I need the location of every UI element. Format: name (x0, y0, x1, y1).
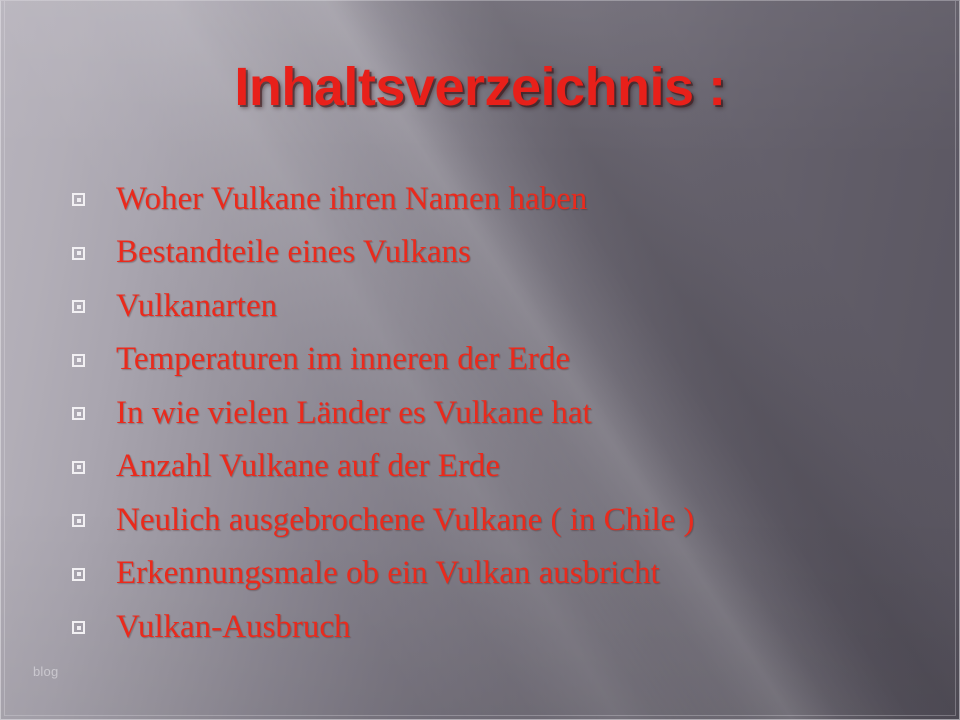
square-bullet-icon (72, 461, 85, 474)
square-bullet-icon (72, 193, 85, 206)
list-item-label: Vulkanarten (116, 288, 277, 324)
list-item[interactable]: In wie vielen Länder es Vulkane hat (0, 386, 960, 440)
list-item-label: Neulich ausgebrochene Vulkane ( in Chile… (116, 502, 694, 538)
watermark-label: blog (33, 664, 58, 680)
table-of-contents-list: Woher Vulkane ihren Namen haben Bestandt… (0, 172, 960, 654)
list-item[interactable]: Temperaturen im inneren der Erde (0, 333, 960, 387)
list-item[interactable]: Erkennungsmale ob ein Vulkan ausbricht (0, 547, 960, 601)
square-bullet-icon (72, 621, 85, 634)
list-item-label: Woher Vulkane ihren Namen haben (116, 181, 587, 217)
list-item[interactable]: Vulkanarten (0, 279, 960, 333)
list-item[interactable]: Woher Vulkane ihren Namen haben (0, 172, 960, 226)
list-item-label: Erkennungsmale ob ein Vulkan ausbricht (116, 555, 660, 591)
square-bullet-icon (72, 354, 85, 367)
list-item-label: Bestandteile eines Vulkans (116, 234, 471, 270)
square-bullet-icon (72, 407, 85, 420)
list-item-label: In wie vielen Länder es Vulkane hat (116, 395, 592, 431)
list-item[interactable]: Bestandteile eines Vulkans (0, 226, 960, 280)
list-item-label: Anzahl Vulkane auf der Erde (116, 448, 500, 484)
list-item-label: Vulkan-Ausbruch (116, 609, 350, 645)
square-bullet-icon (72, 300, 85, 313)
list-item-label: Temperaturen im inneren der Erde (116, 341, 570, 377)
list-item[interactable]: Vulkan-Ausbruch (0, 600, 960, 654)
presentation-slide: Inhaltsverzeichnis : Woher Vulkane ihren… (0, 0, 960, 720)
list-item[interactable]: Anzahl Vulkane auf der Erde (0, 440, 960, 494)
square-bullet-icon (72, 247, 85, 260)
list-item[interactable]: Neulich ausgebrochene Vulkane ( in Chile… (0, 493, 960, 547)
square-bullet-icon (72, 568, 85, 581)
slide-title: Inhaltsverzeichnis : (0, 56, 960, 118)
square-bullet-icon (72, 514, 85, 527)
